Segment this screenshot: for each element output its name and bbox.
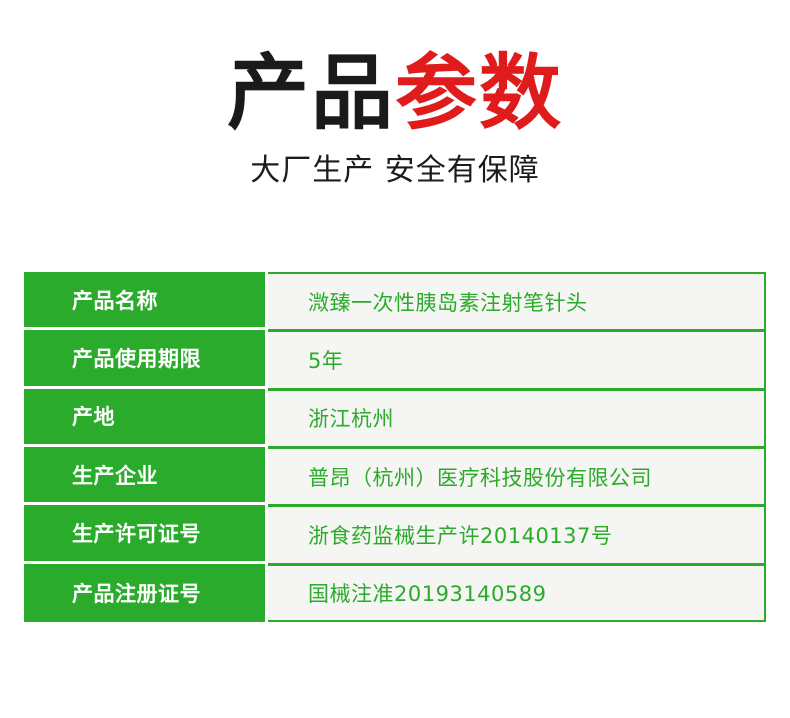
page-title: 产品参数 bbox=[0, 46, 790, 142]
spec-label-service-life: 产品使用期限 bbox=[24, 330, 265, 388]
spec-value-manufacturer: 普昂（杭州）医疗科技股份有限公司 bbox=[268, 447, 766, 505]
spec-label-production-license: 生产许可证号 bbox=[24, 505, 265, 563]
spec-label-registration-number: 产品注册证号 bbox=[24, 564, 265, 622]
spec-label-origin: 产地 bbox=[24, 389, 265, 447]
spec-value-registration-number: 国械注准20193140589 bbox=[268, 564, 766, 622]
table-row: 产品使用期限 5年 bbox=[24, 330, 766, 388]
page-subtitle: 大厂生产 安全有保障 bbox=[0, 150, 790, 192]
table-row: 产品注册证号 国械注准20193140589 bbox=[24, 564, 766, 622]
table-row: 产地 浙江杭州 bbox=[24, 389, 766, 447]
table-row: 生产企业 普昂（杭州）医疗科技股份有限公司 bbox=[24, 447, 766, 505]
spec-label-product-name: 产品名称 bbox=[24, 272, 265, 330]
table-row: 产品名称 溦臻一次性胰岛素注射笔针头 bbox=[24, 272, 766, 330]
product-spec-table: 产品名称 溦臻一次性胰岛素注射笔针头 产品使用期限 5年 产地 浙江杭州 生产企… bbox=[24, 272, 766, 622]
spec-value-product-name: 溦臻一次性胰岛素注射笔针头 bbox=[268, 272, 766, 330]
spec-value-origin: 浙江杭州 bbox=[268, 389, 766, 447]
spec-value-service-life: 5年 bbox=[268, 330, 766, 388]
table-row: 生产许可证号 浙食药监械生产许20140137号 bbox=[24, 505, 766, 563]
page-title-red-part: 参数 bbox=[395, 46, 563, 141]
page-title-black-part: 产品 bbox=[227, 46, 395, 141]
spec-value-production-license: 浙食药监械生产许20140137号 bbox=[268, 505, 766, 563]
spec-label-manufacturer: 生产企业 bbox=[24, 447, 265, 505]
